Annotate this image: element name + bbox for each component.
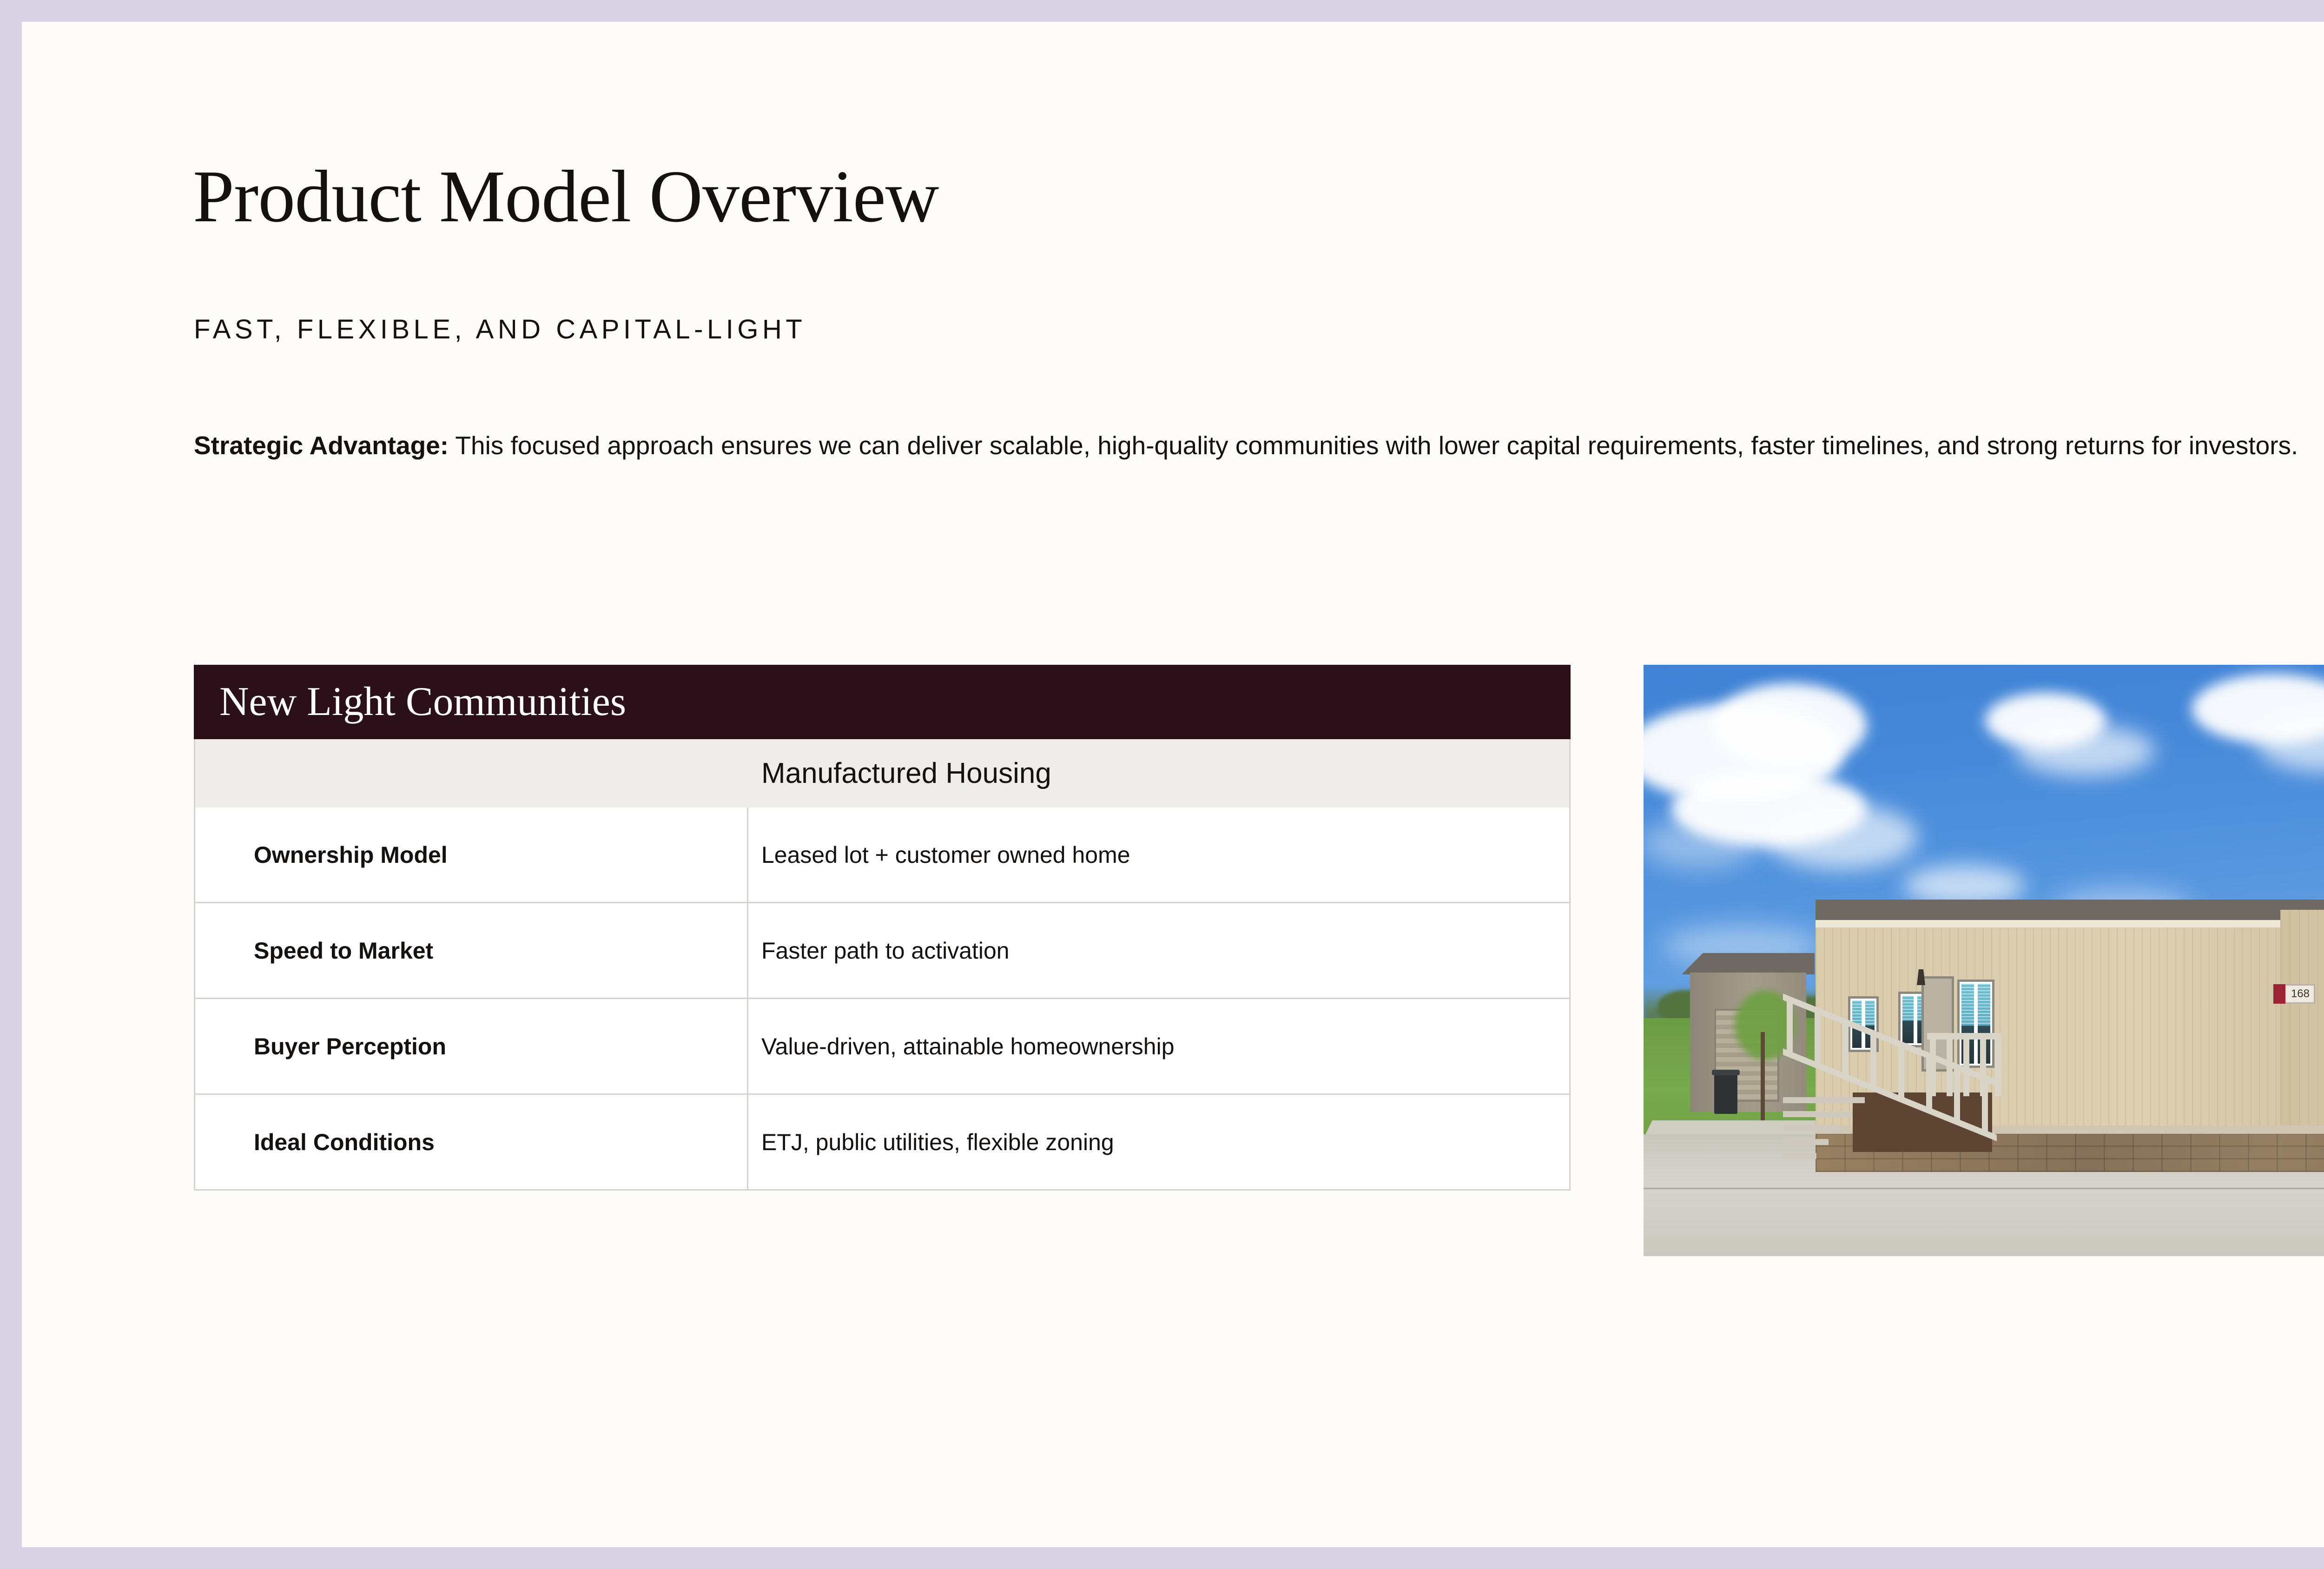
row-value-buyer-perception: Value-driven, attainable homeownership xyxy=(748,1033,1569,1060)
page-title: Product Model Overview xyxy=(193,159,938,233)
shed-roof xyxy=(1682,953,1815,974)
cloud-shape xyxy=(1644,818,1760,869)
row-label-buyer-perception: Buyer Perception xyxy=(195,999,748,1093)
tree-trunk xyxy=(1761,1032,1765,1120)
entry-steps xyxy=(1783,1097,1867,1162)
row-value-speed-to-market: Faster path to activation xyxy=(748,937,1569,964)
porch-railing xyxy=(1927,1033,2001,1103)
table-brand-bar: New Light Communities xyxy=(194,665,1571,739)
row-value-ownership-model: Leased lot + customer owned home xyxy=(748,841,1569,868)
trash-bin xyxy=(1714,1074,1737,1114)
lede-bold-label: Strategic Advantage: xyxy=(194,431,449,460)
cloud-shape xyxy=(1713,683,1867,767)
page-subtitle: FAST, FLEXIBLE, AND CAPITAL-LIGHT xyxy=(194,314,806,345)
cloud-shape xyxy=(1764,804,1918,869)
lede-body-text: This focused approach ensures we can del… xyxy=(449,431,2298,460)
table-row: Speed to Market Faster path to activatio… xyxy=(194,903,1571,999)
product-model-table: New Light Communities Manufactured Housi… xyxy=(194,665,1571,1191)
house-number-plate: 168 xyxy=(2273,984,2315,1004)
slide-canvas: Product Model Overview FAST, FLEXIBLE, A… xyxy=(22,22,2324,1547)
table-row: Ownership Model Leased lot + customer ow… xyxy=(194,808,1571,903)
row-value-ideal-conditions: ETJ, public utilities, flexible zoning xyxy=(748,1129,1569,1156)
strategic-advantage-paragraph: Strategic Advantage: This focused approa… xyxy=(194,427,2324,463)
cloud-shape xyxy=(2015,725,2155,776)
manufactured-home-photo: 168 xyxy=(1644,665,2324,1256)
table-column-header-row: Manufactured Housing xyxy=(194,739,1571,808)
column-header-manufactured-housing: Manufactured Housing xyxy=(748,757,1569,790)
table-brand-title: New Light Communities xyxy=(219,682,626,722)
row-label-speed-to-market: Speed to Market xyxy=(195,903,748,998)
table-row: Buyer Perception Value-driven, attainabl… xyxy=(194,999,1571,1095)
home-gable-end xyxy=(2280,903,2324,1136)
row-label-ideal-conditions: Ideal Conditions xyxy=(195,1095,748,1189)
table-row: Ideal Conditions ETJ, public utilities, … xyxy=(194,1095,1571,1191)
row-label-ownership-model: Ownership Model xyxy=(195,808,748,902)
